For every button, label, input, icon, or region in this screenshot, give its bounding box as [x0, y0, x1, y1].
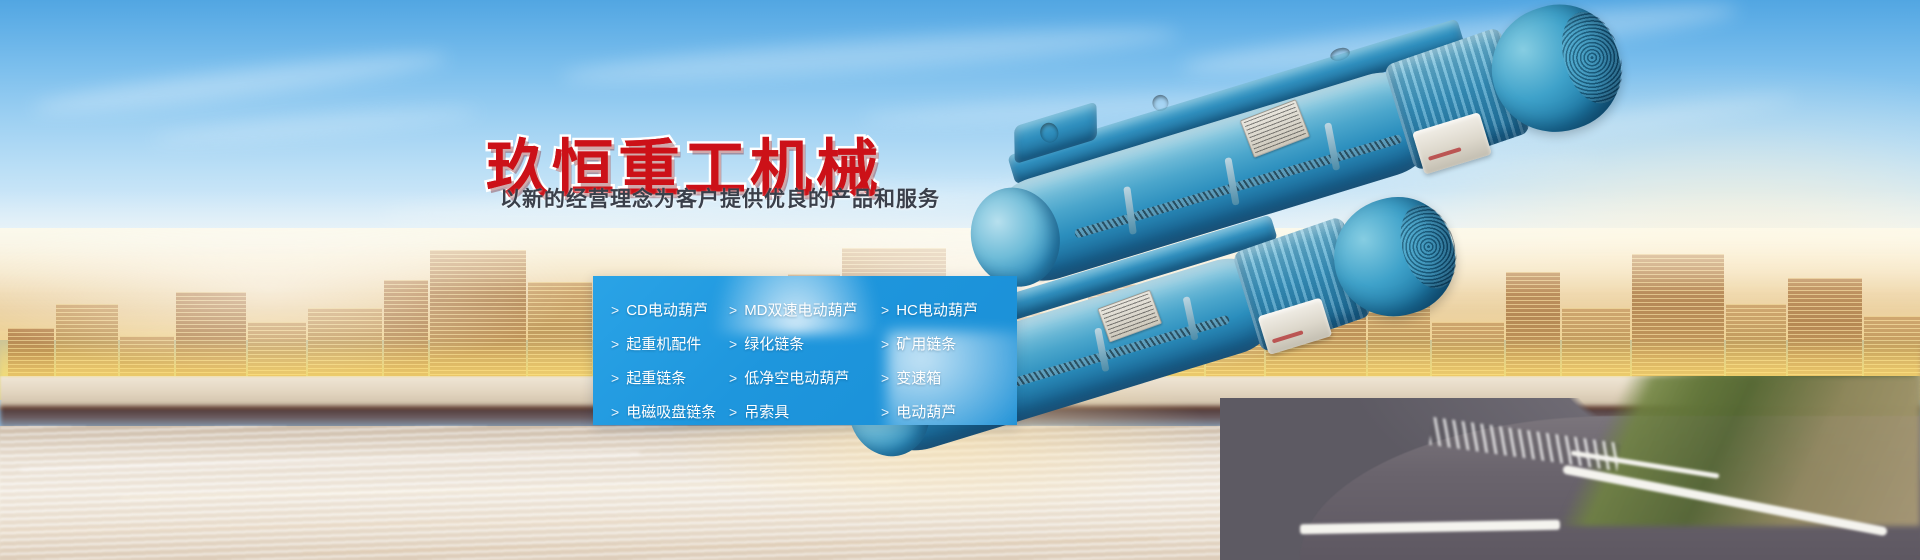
product-category-label: CD电动葫芦: [626, 303, 708, 318]
product-category-link[interactable]: >低净空电动葫芦: [729, 361, 881, 395]
chevron-right-icon: >: [611, 405, 619, 419]
product-category-link[interactable]: >绿化链条: [729, 327, 881, 361]
product-category-link[interactable]: >矿用链条: [881, 327, 1017, 361]
product-category-link[interactable]: >HC电动葫芦: [881, 293, 1017, 327]
product-category-link[interactable]: >变速箱: [881, 361, 1017, 395]
chevron-right-icon: >: [611, 303, 619, 317]
chevron-right-icon: >: [611, 371, 619, 385]
product-category-label: 变速箱: [896, 371, 941, 386]
chevron-right-icon: >: [881, 371, 889, 385]
product-category-label: 起重链条: [626, 371, 686, 386]
product-category-label: 低净空电动葫芦: [744, 371, 849, 386]
product-category-link[interactable]: >起重链条: [611, 361, 729, 395]
product-category-link[interactable]: >MD双速电动葫芦: [729, 293, 881, 327]
product-category-label: 电磁吸盘链条: [626, 405, 716, 420]
product-category-label: 吊索具: [744, 405, 789, 420]
product-category-list: >CD电动葫芦>MD双速电动葫芦>HC电动葫芦>起重机配件>绿化链条>矿用链条>…: [593, 276, 1017, 425]
product-category-link[interactable]: >吊索具: [729, 395, 881, 425]
chevron-right-icon: >: [729, 405, 737, 419]
cloud-wisp: [30, 45, 450, 122]
product-category-link[interactable]: >CD电动葫芦: [611, 293, 729, 327]
product-category-label: 矿用链条: [896, 337, 956, 352]
product-category-link[interactable]: >电磁吸盘链条: [611, 395, 729, 425]
product-category-label: 绿化链条: [744, 337, 804, 352]
chevron-right-icon: >: [881, 405, 889, 419]
company-slogan: 以新的经营理念为客户提供优良的产品和服务: [500, 183, 940, 213]
chevron-right-icon: >: [881, 303, 889, 317]
chevron-right-icon: >: [729, 303, 737, 317]
chevron-right-icon: >: [611, 337, 619, 351]
product-category-label: 起重机配件: [626, 337, 701, 352]
junction-box-label: [1272, 330, 1304, 343]
product-category-label: 电动葫芦: [896, 405, 956, 420]
electric-hoist-group: [860, 50, 1920, 480]
chevron-right-icon: >: [881, 337, 889, 351]
product-category-link[interactable]: >起重机配件: [611, 327, 729, 361]
product-category-link[interactable]: >电动葫芦: [881, 395, 1017, 425]
cloud-wisp: [150, 104, 480, 149]
promo-banner: 玖恒重工机械 玖恒重工机械 以新的经营理念为客户提供优良的产品和服务 >CD电动…: [0, 0, 1920, 560]
product-category-label: HC电动葫芦: [896, 303, 978, 318]
chevron-right-icon: >: [729, 337, 737, 351]
motion-streak: [20, 452, 640, 471]
product-category-label: MD双速电动葫芦: [744, 303, 857, 318]
chevron-right-icon: >: [729, 371, 737, 385]
junction-box-label: [1428, 147, 1462, 161]
product-category-panel: >CD电动葫芦>MD双速电动葫芦>HC电动葫芦>起重机配件>绿化链条>矿用链条>…: [593, 276, 1017, 425]
